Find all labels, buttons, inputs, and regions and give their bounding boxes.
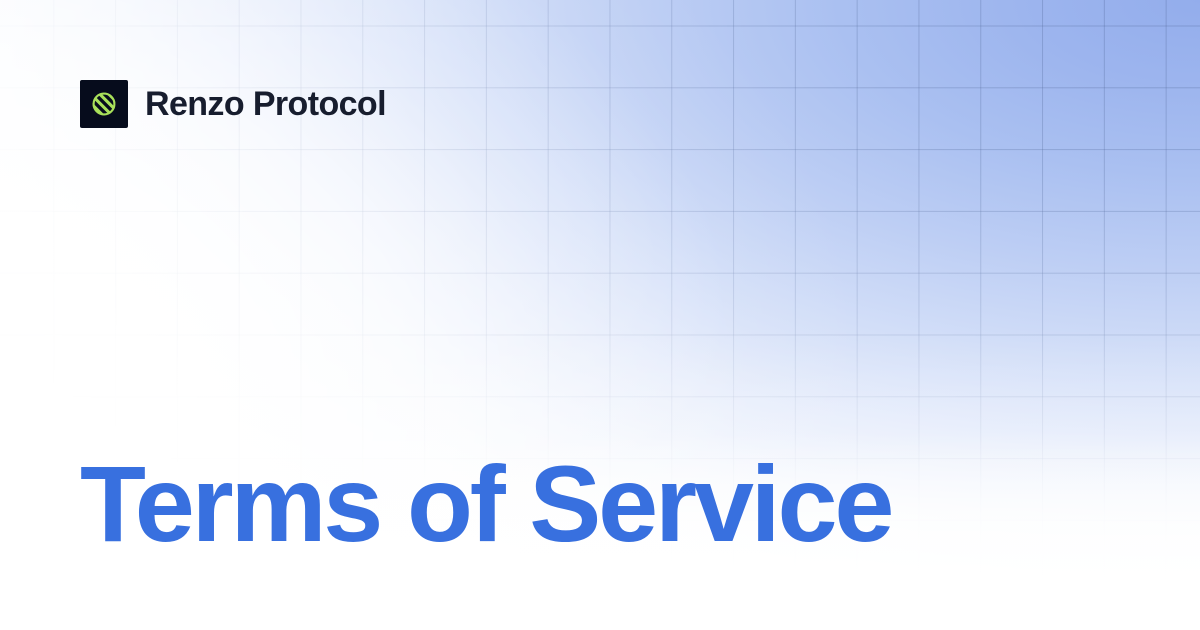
page-title: Terms of Service: [80, 450, 891, 558]
og-card: Renzo Protocol Terms of Service: [0, 0, 1200, 630]
brand-name: Renzo Protocol: [145, 87, 386, 121]
renzo-ez-circle-icon: [80, 80, 128, 128]
brand-lockup: Renzo Protocol: [80, 80, 386, 128]
